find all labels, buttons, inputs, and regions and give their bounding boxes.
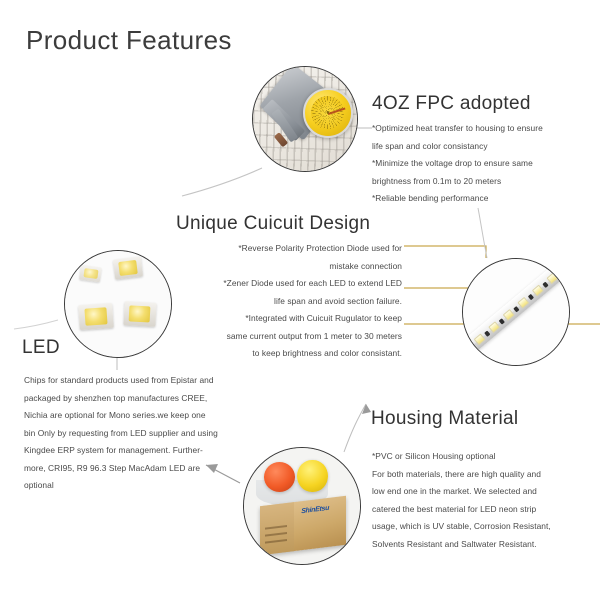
connector-led-curve [14, 320, 58, 329]
caliper-dial [303, 88, 353, 138]
led-bullet-6: optional [24, 477, 218, 495]
led-chip [113, 257, 143, 280]
connector-circuit-1 [404, 246, 486, 258]
connector-housing-stem [344, 404, 366, 452]
strip-component [484, 331, 490, 337]
led-bullet-3: bin Only by requesting from LED supplier… [24, 425, 218, 443]
connector-fpc-curve [182, 168, 262, 196]
strip-component [528, 294, 534, 300]
housing-photo-inner: ShinEtsu [244, 448, 360, 564]
circuit-title: Unique Cuicuit Design [176, 213, 370, 235]
housing-bullet-3: catered the best material for LED neon s… [372, 501, 551, 519]
fpc-bullet-4: *Reliable bending performance [372, 190, 543, 208]
housing-photo: ShinEtsu [243, 447, 361, 565]
page-title: Product Features [26, 25, 232, 56]
led-title: LED [22, 337, 60, 359]
fpc-title: 4OZ FPC adopted [372, 93, 531, 115]
led-bullet-1: packaged by shenzhen top manufactures CR… [24, 390, 218, 408]
circuit-bullet-4: *Integrated with Cuicuit Rugulator to ke… [150, 310, 402, 328]
led-chip [78, 303, 114, 331]
housing-title: Housing Material [371, 408, 518, 430]
led-bullet-2: Nichia are optional for Mono series.we k… [24, 407, 218, 425]
strip-led [562, 261, 569, 273]
housing-bullet-4: usage, which is UV stable, Corrosion Res… [372, 518, 551, 536]
housing-bullets: *PVC or Silicon Housing optional For bot… [372, 448, 551, 553]
fpc-bullet-1: life span and color consistancy [372, 138, 543, 156]
circuit-bullet-5: same current output from 1 meter to 30 m… [150, 328, 402, 346]
circuit-bullet-2: *Zener Diode used for each LED to extend… [150, 275, 402, 293]
circuit-bullet-6: to keep brightness and color consistant. [150, 345, 402, 363]
led-bullets: Chips for standard products used from Ep… [24, 372, 218, 495]
infographic-page: Product Features 4OZ FPC adopted *Optimi… [0, 0, 600, 600]
strip-led [503, 310, 515, 322]
red-pellets [264, 462, 295, 492]
circuit-bullets: *Reverse Polarity Protection Diode used … [150, 240, 402, 363]
fpc-photo-inner [253, 67, 357, 171]
circuit-bullet-0: *Reverse Polarity Protection Diode used … [150, 240, 402, 258]
led-chip [124, 301, 157, 327]
housing-arrow-head-icon [362, 404, 371, 414]
strip-component [499, 318, 505, 324]
circuit-photo-inner [463, 259, 569, 365]
strip-component [514, 306, 520, 312]
housing-bullet-5: Solvents Resistant and Saltwater Resista… [372, 536, 551, 554]
connector-strip-stem [478, 208, 487, 258]
circuit-photo [462, 258, 570, 366]
led-photo-inner [65, 251, 171, 357]
strip-component [557, 270, 563, 276]
strip-led [518, 297, 530, 309]
strip-component [470, 343, 476, 349]
fpc-bullet-0: *Optimized heat transfer to housing to e… [372, 120, 543, 138]
led-chip [79, 264, 102, 282]
led-photo [64, 250, 172, 358]
strip-led [547, 273, 559, 285]
led-bullet-4: Kingdee ERP system for management. Furth… [24, 442, 218, 460]
circuit-bullet-1: mistake connection [150, 258, 402, 276]
led-bullet-5: more, CRI95, R9 96.3 Step MacAdam LED ar… [24, 460, 218, 478]
circuit-bullet-3: life span and avoid section failure. [150, 293, 402, 311]
fpc-bullets: *Optimized heat transfer to housing to e… [372, 120, 543, 208]
strip-led [532, 285, 544, 297]
housing-bullet-2: low end one in the market. We selected a… [372, 483, 551, 501]
housing-bullet-0: *PVC or Silicon Housing optional [372, 448, 551, 466]
led-bullet-0: Chips for standard products used from Ep… [24, 372, 218, 390]
fpc-photo [252, 66, 358, 172]
carton-brand-label: ShinEtsu [301, 505, 329, 515]
strip-led [489, 322, 501, 334]
strip-led [474, 334, 486, 346]
fpc-bullet-2: *Minimize the voltage drop to ensure sam… [372, 155, 543, 173]
yellow-pellets [297, 460, 327, 492]
strip-component [543, 282, 549, 288]
fpc-bullet-3: brightness from 0.1m to 20 meters [372, 173, 543, 191]
housing-bullet-1: For both materials, there are high quali… [372, 466, 551, 484]
